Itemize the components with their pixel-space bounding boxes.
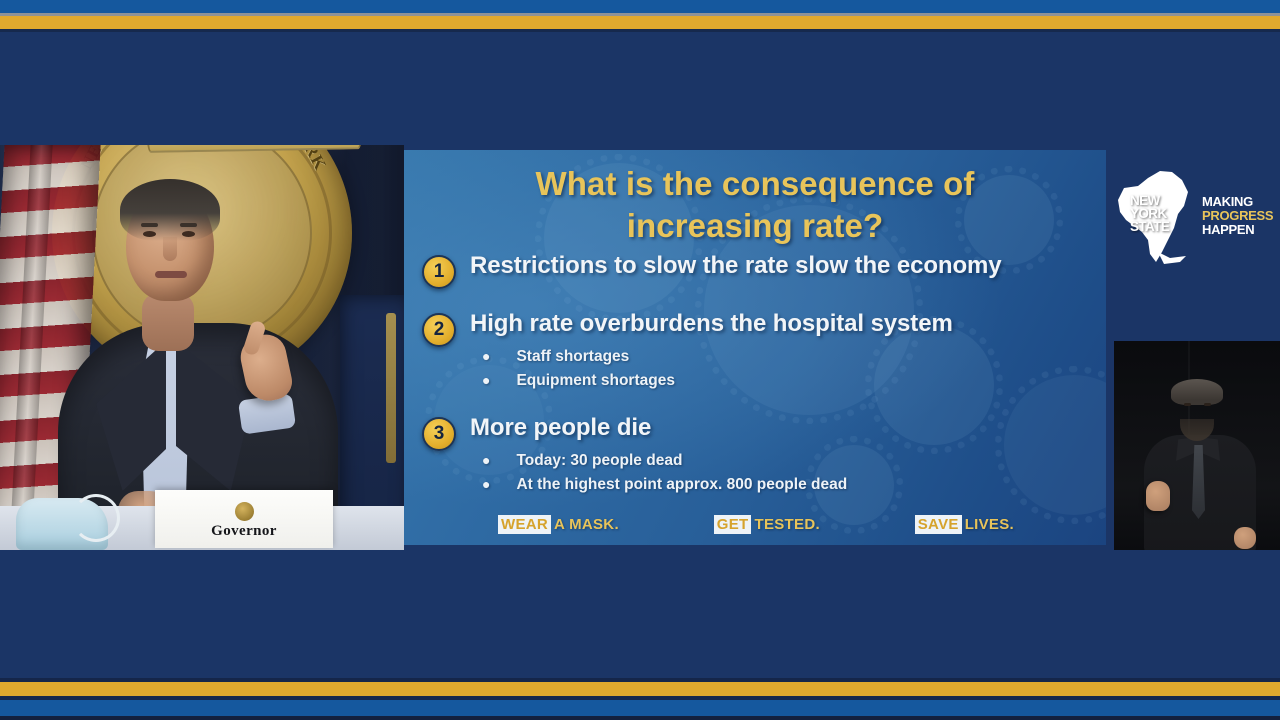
slogan-1-rest: A MASK.: [554, 516, 619, 533]
point-2-heading: High rate overburdens the hospital syste…: [470, 311, 953, 338]
slide-bullet-list: 1 Restrictions to slow the rate slow the…: [422, 253, 1090, 497]
logo-line-3: STATE: [1130, 220, 1169, 233]
eyebrow-left: [141, 223, 158, 227]
logo-tagline: MAKING PROGRESS HAPPEN: [1202, 195, 1273, 236]
number-badge-1: 1: [422, 255, 456, 289]
asl-interpreter-feed: [1114, 341, 1280, 550]
bullet-dot-icon: ●: [482, 373, 490, 387]
number-badge-2: 2: [422, 313, 456, 347]
bottom-gold-band: [0, 682, 1280, 696]
necktie: [1192, 445, 1205, 519]
eye-right: [182, 231, 195, 237]
interpreter-eye-right: [1204, 403, 1211, 406]
number-badge-3: 3: [422, 417, 456, 451]
slogan-bar: WEARA MASK. GETTESTED. SAVELIVES.: [404, 516, 1106, 533]
point-3-sub-2: At the highest point approx. 800 people …: [516, 473, 847, 497]
nameplate-seal-icon: [235, 502, 254, 521]
eyebrow-right: [180, 223, 197, 227]
slide-title-line-2: increasing rate?: [464, 205, 1046, 247]
point-1-heading: Restrictions to slow the rate slow the e…: [470, 253, 1002, 280]
point-2-sub-1: Staff shortages: [516, 345, 629, 369]
point-3-sublist: ● Today: 30 people dead ● At the highest…: [482, 449, 847, 497]
bullet-dot-icon: ●: [482, 477, 490, 491]
list-item: ● Staff shortages: [482, 345, 953, 369]
slogan-2-highlight: GET: [714, 515, 752, 534]
nameplate-title: Governor: [211, 523, 277, 540]
bottom-edge: [0, 716, 1280, 720]
slogan-wear-a-mask: WEARA MASK.: [498, 516, 619, 533]
slogan-get-tested: GETTESTED.: [714, 516, 820, 533]
governor-hair: [120, 179, 220, 241]
slide-point-3: 3 More people die ● Today: 30 people dea…: [422, 415, 1090, 497]
new-york-state-logo: NEW YORK STATE MAKING PROGRESS HAPPEN: [1114, 160, 1280, 272]
slogan-3-highlight: SAVE: [915, 515, 962, 534]
governor-video-feed: NEW YORK EXCELSIOR Governor: [0, 145, 404, 550]
face-mask-icon: [16, 498, 108, 550]
list-item: ● Today: 30 people dead: [482, 449, 847, 473]
presentation-slide: What is the consequence of increasing ra…: [404, 145, 1106, 550]
bullet-dot-icon: ●: [482, 453, 490, 467]
nose: [163, 237, 177, 261]
point-2-sub-2: Equipment shortages: [516, 369, 674, 393]
slide-title: What is the consequence of increasing ra…: [404, 163, 1106, 247]
point-2-sublist: ● Staff shortages ● Equipment shortages: [482, 345, 953, 393]
bullet-dot-icon: ●: [482, 349, 490, 363]
logo-tag-making: MAKING: [1202, 195, 1273, 209]
slogan-3-rest: LIVES.: [965, 516, 1014, 533]
slogan-2-rest: TESTED.: [754, 516, 819, 533]
interpreter-eye-left: [1184, 403, 1191, 406]
top-band-shadow: [0, 29, 1280, 32]
broadcast-frame: NEW YORK EXCELSIOR Governor: [0, 0, 1280, 720]
list-item: ● At the highest point approx. 800 peopl…: [482, 473, 847, 497]
logo-state-name: NEW YORK STATE: [1130, 194, 1169, 234]
slogan-save-lives: SAVELIVES.: [915, 516, 1014, 533]
bottom-blue-band: [0, 700, 1280, 716]
governor-neck: [142, 293, 194, 351]
spacer: [422, 289, 1090, 311]
point-3-sub-1: Today: 30 people dead: [516, 449, 682, 473]
signing-hand: [1146, 481, 1170, 511]
slide-point-1: 1 Restrictions to slow the rate slow the…: [422, 253, 1090, 289]
eye-left: [143, 231, 156, 237]
flag-fold: [9, 145, 52, 550]
spacer: [422, 393, 1090, 415]
slide-point-2: 2 High rate overburdens the hospital sys…: [422, 311, 1090, 393]
new-york-state-silhouette-icon: NEW YORK STATE: [1114, 166, 1198, 266]
logo-tag-happen: HAPPEN: [1202, 223, 1273, 237]
slide-title-line-1: What is the consequence of: [464, 163, 1046, 205]
nameplate: Governor: [155, 490, 333, 548]
slogan-1-highlight: WEAR: [498, 515, 551, 534]
slide-bottom-edge: [404, 545, 1106, 550]
list-item: ● Equipment shortages: [482, 369, 953, 393]
mouth: [155, 271, 187, 278]
point-3-heading: More people die: [470, 415, 847, 442]
top-blue-band: [0, 0, 1280, 13]
top-gold-band: [0, 16, 1280, 29]
interpreter-hair: [1171, 379, 1223, 405]
logo-tag-progress: PROGRESS: [1202, 209, 1273, 223]
signing-hand-lower: [1234, 527, 1256, 549]
